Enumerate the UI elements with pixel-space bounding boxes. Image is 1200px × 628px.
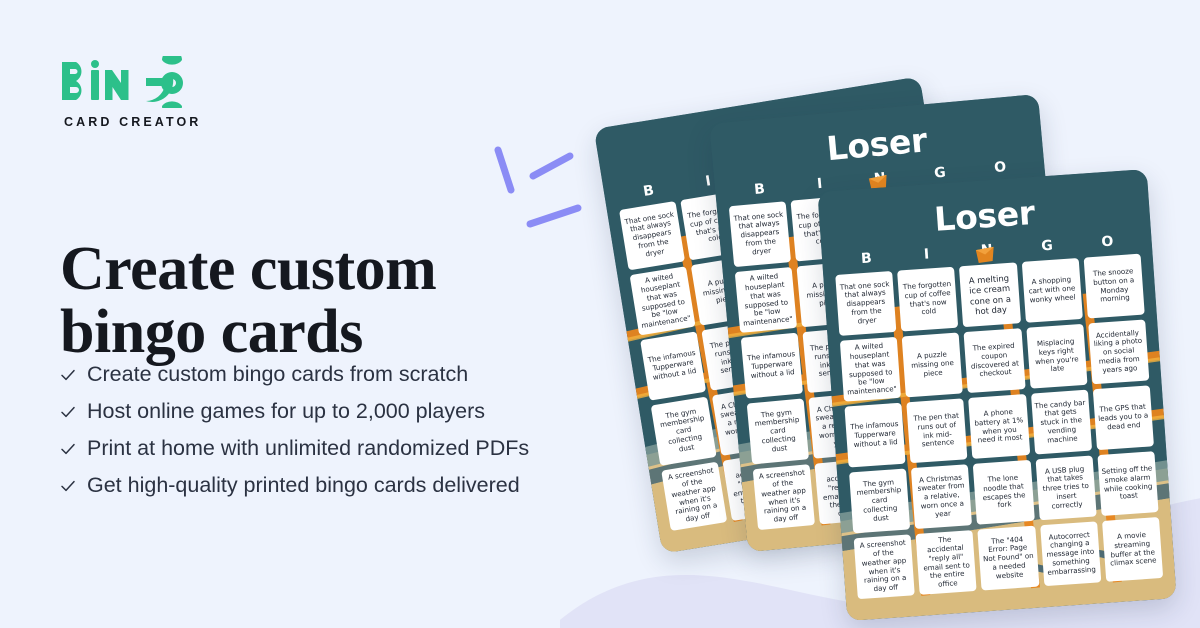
check-icon [60,478,76,494]
bingo-cell[interactable]: A movie streaming buffer at the climax s… [1102,517,1163,582]
bingo-cell[interactable]: The gym membership card collecting dust [849,469,910,534]
bingo-cell[interactable]: The candy bar that gets stuck in the ven… [1031,390,1092,455]
bingo-cell[interactable]: A Christmas sweater from a relative, wor… [911,464,972,529]
brand-logo[interactable]: CARD CREATOR [60,56,201,129]
bingo-cell[interactable]: The infamous Tupperware without a lid [640,331,706,400]
bingo-cell[interactable]: The GPS that leads you to a dead end [1093,385,1154,450]
feature-label: Host online games for up to 2,000 player… [87,400,485,424]
bingo-cell[interactable]: A shopping cart with one wonky wheel [1021,258,1082,323]
bingo-cell[interactable]: A wilted houseplant that was supposed to… [630,266,696,335]
bingo-cell[interactable]: A screenshot of the weather app when it'… [854,534,915,599]
bingo-cell[interactable]: The infamous Tupperware without a lid [844,403,905,468]
bingo-cell[interactable]: A screenshot of the weather app when it'… [753,464,815,530]
bingo-cell[interactable]: Accidentally liking a photo on social me… [1088,319,1149,384]
bingo-cell[interactable]: That one sock that always disappears fro… [729,201,791,267]
bingo-cell[interactable]: A melting ice cream cone on a hot day [959,262,1020,327]
bingo-cell[interactable]: The snooze button on a Monday morning [1083,254,1144,319]
feature-label: Get high-quality printed bingo cards del… [87,474,520,498]
bingo-cell[interactable]: The gym membership card collecting dust [651,396,717,465]
bingo-cell[interactable]: The forgotten cup of coffee that's now c… [897,267,958,332]
bingo-cell[interactable]: The pen that runs out of ink mid-sentenc… [906,398,967,463]
bingo-cell[interactable]: The infamous Tupperware without a lid [741,333,803,399]
list-item: Host online games for up to 2,000 player… [60,395,620,428]
bingo-cell[interactable]: A wilted houseplant that was supposed to… [735,267,797,333]
bingo-cell[interactable]: That one sock that always disappears fro… [835,271,896,336]
feature-list: Create custom bingo cards from scratch H… [60,358,620,506]
bingo-cell[interactable]: The accidental "reply all" email sent to… [916,530,977,595]
bingo-cell[interactable]: Setting off the smoke alarm while cookin… [1097,451,1158,516]
logo-tagline: CARD CREATOR [64,115,201,129]
bingo-cell[interactable]: A phone battery at 1% when you need it m… [969,394,1030,459]
hero-banner: CARD CREATOR Create custom bingo cards C… [0,0,1200,628]
bingo-cell[interactable]: The lone noodle that escapes the fork [973,460,1034,525]
bingo-cell[interactable]: A puzzle missing one piece [902,333,963,398]
list-item: Create custom bingo cards from scratch [60,358,620,391]
ice-cream-cone-icon [972,244,999,266]
bingo-cell[interactable]: Misplacing keys right when you're late [1026,324,1087,389]
bingo-card-fan: LoserBINGOThat one sock that always disa… [600,60,1200,628]
check-icon [60,404,76,420]
feature-label: Print at home with unlimited randomized … [87,437,529,461]
bingo-cell[interactable]: Autocorrect changing a message into some… [1040,521,1101,586]
bingo-grid: That one sock that always disappears fro… [835,254,1163,600]
headline-line-2: bingo cards [60,301,580,364]
headline-line-1: Create custom [60,235,436,303]
feature-label: Create custom bingo cards from scratch [87,363,468,387]
bingo-card-front[interactable]: LoserBINGOThat one sock that always disa… [817,169,1176,621]
bingo-cell[interactable]: The gym membership card collecting dust [747,398,809,464]
page-title: Create custom bingo cards [60,238,580,364]
check-icon [60,367,76,383]
bingo-cell[interactable]: The "404 Error: Page Not Found" on a nee… [978,526,1039,591]
bingo-wordmark-icon [60,56,186,108]
bingo-cell[interactable]: A USB plug that takes three tries to ins… [1035,456,1096,521]
bingo-cell[interactable]: A wilted houseplant that was supposed to… [840,337,901,402]
check-icon [60,441,76,457]
bingo-cell[interactable]: A screenshot of the weather app when it'… [661,462,727,531]
sparkle-decoration-icon [478,138,588,250]
bingo-cell[interactable]: The expired coupon discovered at checkou… [964,328,1025,393]
list-item: Get high-quality printed bingo cards del… [60,469,620,502]
list-item: Print at home with unlimited randomized … [60,432,620,465]
bingo-cell[interactable]: That one sock that always disappears fro… [619,201,685,270]
